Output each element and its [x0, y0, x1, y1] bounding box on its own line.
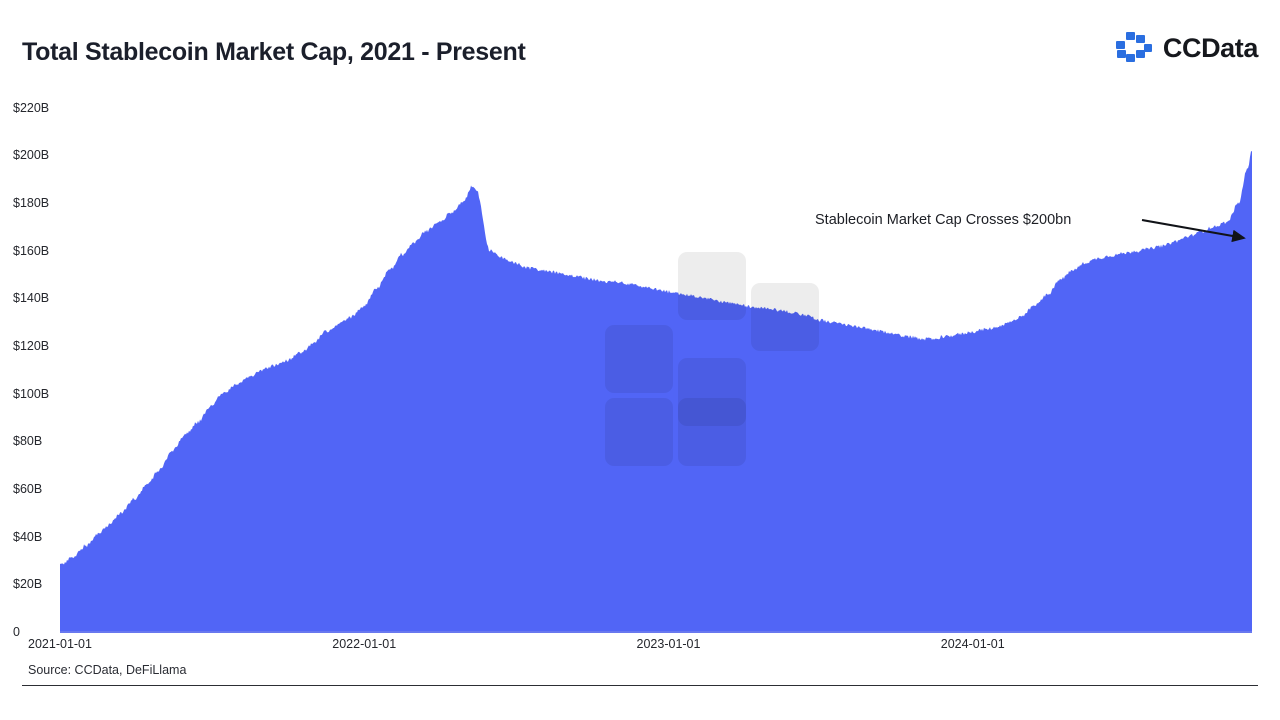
y-tick-label: $200B — [2, 148, 62, 162]
chart-header: Total Stablecoin Market Cap, 2021 - Pres… — [0, 0, 1280, 88]
x-axis-line — [60, 631, 1252, 633]
area-series-stablecoin-market-cap — [60, 84, 1252, 632]
ccdata-pixel-logo-icon — [1116, 32, 1152, 64]
brand-name: CCData — [1163, 35, 1258, 62]
y-tick-label: $100B — [2, 387, 62, 401]
chart-canvas — [60, 84, 1252, 632]
chart-footer: Source: CCData, DeFiLlama — [0, 663, 1280, 703]
ccdata-brand-logo: CCData — [1116, 32, 1258, 64]
x-tick-label: 2021-01-01 — [28, 637, 92, 651]
x-tick-label: 2023-01-01 — [637, 637, 701, 651]
y-tick-label: $80B — [2, 434, 62, 448]
y-tick-label: $160B — [2, 244, 62, 258]
y-tick-label: $140B — [2, 291, 62, 305]
y-tick-label: $20B — [2, 577, 62, 591]
area-fill-path — [60, 151, 1252, 632]
footer-divider — [22, 685, 1258, 686]
chart-page: Total Stablecoin Market Cap, 2021 - Pres… — [0, 0, 1280, 720]
page-title: Total Stablecoin Market Cap, 2021 - Pres… — [22, 38, 525, 67]
x-tick-label: 2024-01-01 — [941, 637, 1005, 651]
x-tick-label: 2022-01-01 — [332, 637, 396, 651]
y-tick-label: $220B — [2, 101, 62, 115]
y-axis: $220B$200B$180B$160B$140B$120B$100B$80B$… — [0, 84, 62, 632]
chart-plot-area: $220B$200B$180B$160B$140B$120B$100B$80B$… — [0, 84, 1280, 632]
x-axis: 2021-01-012022-01-012023-01-012024-01-01 — [0, 637, 1280, 661]
y-tick-label: $180B — [2, 196, 62, 210]
y-tick-label: $60B — [2, 482, 62, 496]
y-tick-label: $40B — [2, 530, 62, 544]
y-tick-label: $120B — [2, 339, 62, 353]
source-note: Source: CCData, DeFiLlama — [28, 663, 186, 677]
